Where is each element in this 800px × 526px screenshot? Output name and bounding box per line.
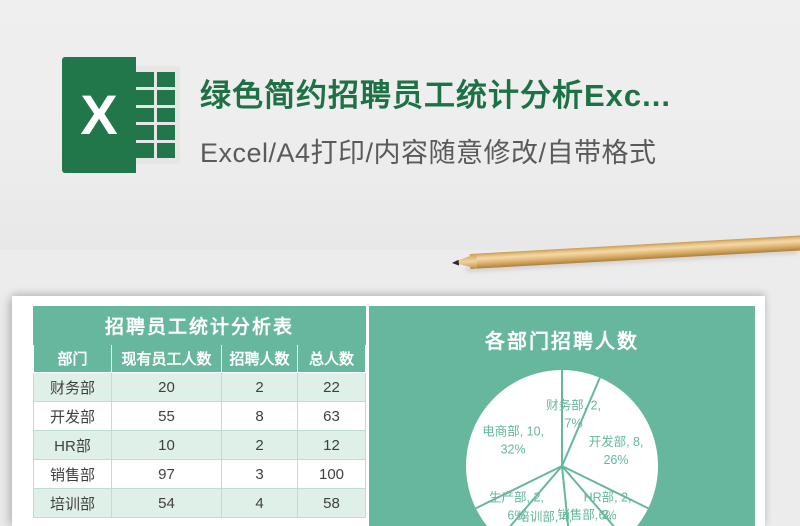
pie-chart-svg: 财务部, 2,7%开发部, 8,26%HR部, 2,6%销售部, 3,10%培训…	[447, 361, 677, 526]
statistics-table-panel: 招聘员工统计分析表部门现有员工人数招聘人数总人数财务部20222开发部55863…	[33, 306, 365, 526]
cell-value: 8	[222, 402, 298, 431]
column-header-4: 总人数	[298, 345, 366, 373]
cell-department: 财务部	[34, 373, 112, 402]
pie-chart: 财务部, 2,7%开发部, 8,26%HR部, 2,6%销售部, 3,10%培训…	[369, 361, 755, 526]
table-header-row: 部门现有员工人数招聘人数总人数	[34, 345, 366, 373]
table-row: 培训部54458	[34, 489, 366, 518]
cell-value: 4	[222, 489, 298, 518]
column-header-1: 部门	[34, 345, 112, 373]
cell-value: 2	[222, 373, 298, 402]
page-title: 绿色简约招聘员工统计分析Exc...	[200, 70, 780, 115]
cell-value: 97	[112, 460, 222, 489]
excel-folder-shape: X	[62, 57, 136, 173]
cell-value: 58	[298, 489, 366, 518]
cell-value: 63	[298, 402, 366, 431]
cell-value: 2	[222, 431, 298, 460]
cell-department: 培训部	[34, 489, 112, 518]
cell-value: 10	[112, 431, 222, 460]
table-title-row: 招聘员工统计分析表	[34, 307, 366, 345]
document-preview[interactable]: 招聘员工统计分析表部门现有员工人数招聘人数总人数财务部20222开发部55863…	[12, 296, 765, 526]
page-subtitle: Excel/A4打印/内容随意修改/自带格式	[200, 131, 780, 170]
cell-value: 54	[112, 489, 222, 518]
table-row: 开发部55863	[34, 402, 366, 431]
table-row: 财务部20222	[34, 373, 366, 402]
cell-value: 55	[112, 402, 222, 431]
cell-value: 12	[298, 431, 366, 460]
cell-value: 3	[222, 460, 298, 489]
cell-department: 开发部	[34, 402, 112, 431]
column-header-2: 现有员工人数	[112, 345, 222, 373]
pencil-lead	[452, 260, 459, 266]
statistics-table: 招聘员工统计分析表部门现有员工人数招聘人数总人数财务部20222开发部55863…	[33, 306, 366, 518]
promo-banner: X 绿色简约招聘员工统计分析Exc... Excel/A4打印/内容随意修改/自…	[0, 0, 800, 250]
excel-logo-letter: X	[62, 86, 136, 144]
chart-title: 各部门招聘人数	[369, 325, 755, 354]
table-row: 销售部973100	[34, 460, 366, 489]
cell-value: 100	[298, 460, 366, 489]
cell-value: 20	[112, 373, 222, 402]
excel-logo-icon: X	[62, 57, 180, 173]
pie-chart-panel: 各部门招聘人数 财务部, 2,7%开发部, 8,26%HR部, 2,6%销售部,…	[369, 306, 755, 526]
column-header-3: 招聘人数	[222, 345, 298, 373]
pie-slice-label: 培训部, 4,13%	[517, 509, 572, 526]
excel-sheet-grid	[135, 72, 175, 158]
cell-department: 销售部	[34, 460, 112, 489]
table-row: HR部10212	[34, 431, 366, 460]
table-title: 招聘员工统计分析表	[34, 307, 366, 345]
cell-value: 22	[298, 373, 366, 402]
cell-department: HR部	[34, 431, 112, 460]
